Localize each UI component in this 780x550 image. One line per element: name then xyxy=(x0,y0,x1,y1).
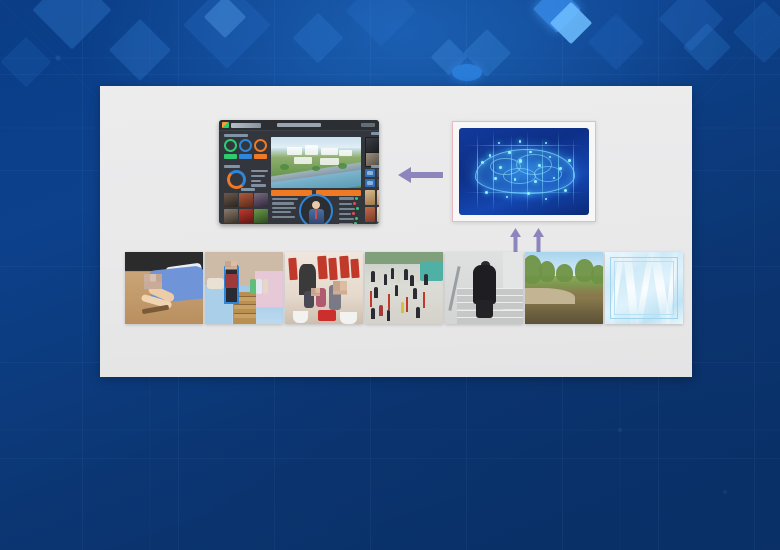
camera-feed-1[interactable] xyxy=(366,138,379,152)
up-arrow-icon-1 xyxy=(510,228,521,254)
photo-light-blue-abstract-texture[interactable] xyxy=(605,252,683,324)
person-thumbnail[interactable] xyxy=(254,209,268,223)
gauge-green xyxy=(224,139,237,161)
alert-status-list xyxy=(339,197,361,224)
person-thumbnail[interactable] xyxy=(239,209,253,223)
data-table-left xyxy=(272,198,298,220)
donut-chart xyxy=(227,170,246,189)
scene-thumbnail[interactable] xyxy=(365,190,375,205)
dashboard-title-text xyxy=(277,123,321,127)
table-header-bar-left xyxy=(271,190,312,196)
up-arrow-icon-2 xyxy=(533,228,544,254)
slide-canvas xyxy=(0,0,780,550)
dashboard-header-controls[interactable] xyxy=(361,123,375,127)
scene-thumbnail[interactable] xyxy=(365,207,375,222)
dashboard-section-label-1 xyxy=(224,134,248,137)
photo-seated-person-in-bedroom[interactable] xyxy=(205,252,283,324)
decor-ellipse xyxy=(452,64,482,81)
device-tile-5[interactable] xyxy=(377,179,380,187)
camera-grid-label xyxy=(371,132,379,135)
photo-elderly-person-fallen-beside-bed[interactable] xyxy=(125,252,203,324)
person-profile-widget xyxy=(299,194,333,224)
camera-feed-grid[interactable] xyxy=(365,137,379,167)
dashboard-section-label-2 xyxy=(224,165,240,168)
scene-thumbnail[interactable] xyxy=(377,207,380,222)
photo-crowd-in-outdoor-plaza[interactable] xyxy=(365,252,443,324)
photo-group-in-decorated-room[interactable] xyxy=(285,252,363,324)
camera-feed-3[interactable] xyxy=(366,153,379,167)
device-tile-4[interactable] xyxy=(365,179,375,187)
scene-thumbnail[interactable] xyxy=(377,190,380,205)
device-tile-grid[interactable] xyxy=(365,169,379,187)
photo-man-climbing-stairs[interactable] xyxy=(445,252,523,324)
dashboard-logo-icon xyxy=(222,122,229,128)
device-tiles-label xyxy=(371,165,379,168)
person-thumbnail-grid[interactable] xyxy=(224,193,268,223)
person-thumbnail[interactable] xyxy=(239,193,253,207)
dashboard-body xyxy=(219,130,379,224)
surveillance-photo-strip xyxy=(125,252,685,324)
photo-lakeside-with-willow-trees[interactable] xyxy=(525,252,603,324)
dashboard-gauge-row xyxy=(224,139,268,161)
scene-thumbnail-grid[interactable] xyxy=(365,190,379,222)
dashboard-brand-text xyxy=(231,123,261,128)
device-tile-2[interactable] xyxy=(377,169,380,177)
gauge-orange xyxy=(254,139,267,161)
ai-neural-brain-image xyxy=(459,128,589,215)
main-map-view[interactable] xyxy=(271,137,361,188)
content-panel xyxy=(100,86,692,377)
donut-stats-list xyxy=(251,170,268,189)
ai-neural-brain-frame[interactable] xyxy=(452,121,596,222)
device-tile-1[interactable] xyxy=(365,169,375,177)
person-thumbnail[interactable] xyxy=(224,209,238,223)
person-thumbnails-label xyxy=(241,188,255,191)
gauge-blue xyxy=(239,139,252,161)
left-arrow-icon xyxy=(398,166,443,184)
surveillance-dashboard-screenshot[interactable] xyxy=(219,120,379,224)
person-thumbnail[interactable] xyxy=(224,193,238,207)
person-thumbnail[interactable] xyxy=(254,193,268,207)
